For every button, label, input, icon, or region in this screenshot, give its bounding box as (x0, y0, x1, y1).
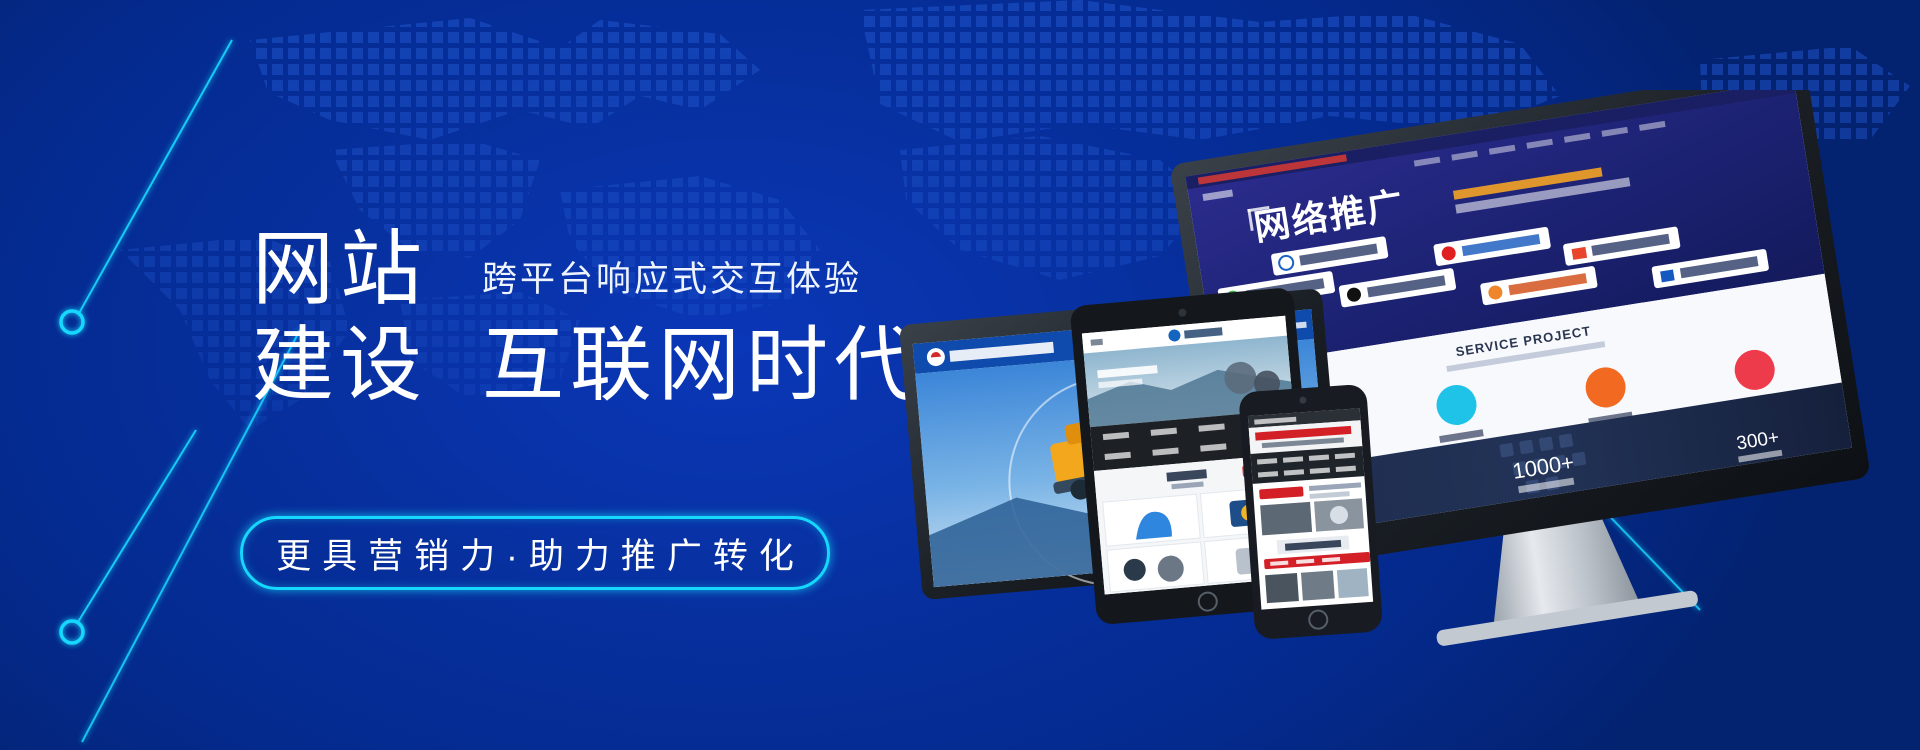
hero-subtitle: 跨平台响应式交互体验 (482, 260, 922, 300)
hero-banner: 网站 建设 跨平台响应式交互体验 互联网时代 更具营销力·助力推广转化 (0, 0, 1920, 750)
headline-left-column: 网站 建设 (252, 222, 428, 414)
headline-line-1: 网站 (252, 222, 428, 318)
tagline-pill: 更具营销力·助力推广转化 (240, 516, 830, 590)
headline-right-line: 互联网时代 (482, 318, 922, 414)
hero-copy: 网站 建设 跨平台响应式交互体验 互联网时代 更具营销力·助力推广转化 (0, 0, 1000, 750)
headline-group: 网站 建设 跨平台响应式交互体验 互联网时代 (252, 222, 922, 414)
device-mockup-group: 网络推广 (880, 90, 1920, 650)
headline-right-column: 跨平台响应式交互体验 互联网时代 (428, 260, 922, 414)
tagline-text: 更具营销力·助力推广转化 (265, 528, 805, 579)
headline-row: 网站 建设 跨平台响应式交互体验 互联网时代 (252, 222, 922, 414)
phone-mockup (1238, 384, 1383, 640)
headline-line-2: 建设 (252, 318, 428, 414)
